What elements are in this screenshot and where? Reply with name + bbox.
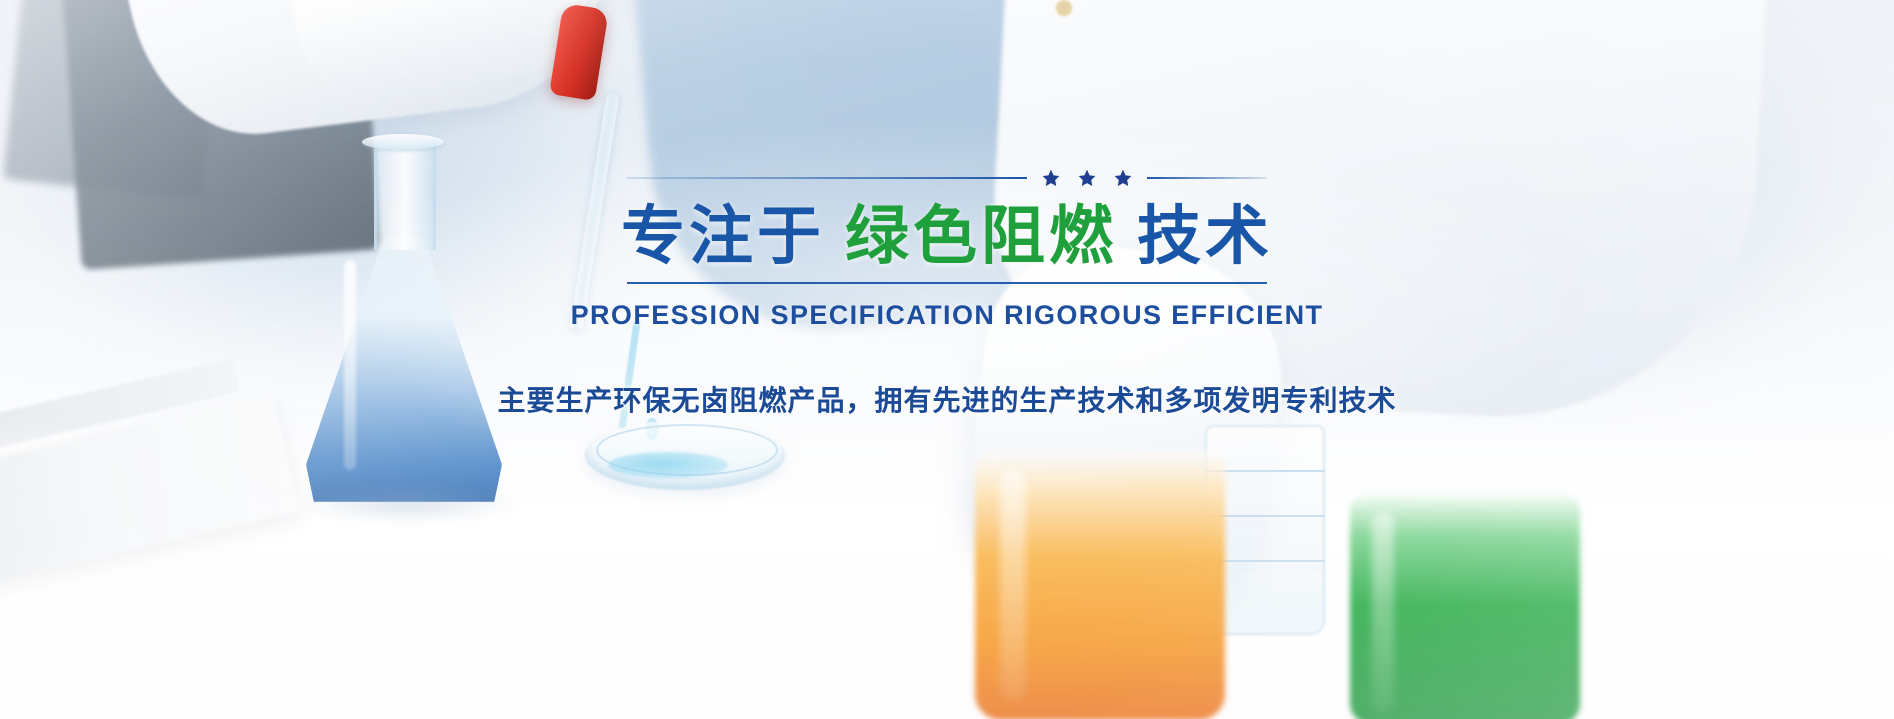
headline-part-1: 专注于: [621, 200, 825, 272]
hero-banner: 专注于绿色阻燃技术 PROFESSION SPECIFICATION RIGOR…: [0, 0, 1894, 719]
banner-description: 主要生产环保无卤阻燃产品，拥有先进的生产技术和多项发明专利技术: [497, 379, 1396, 419]
star-icon: [1077, 168, 1097, 188]
banner-content: 专注于绿色阻燃技术 PROFESSION SPECIFICATION RIGOR…: [0, 0, 1894, 719]
banner-headline: 专注于绿色阻燃技术: [621, 204, 1273, 268]
bottom-divider: [627, 282, 1267, 284]
headline-part-2: 绿色阻燃: [845, 200, 1117, 272]
divider-stars: [1041, 168, 1133, 188]
divider-line-right: [1147, 177, 1267, 179]
banner-subtitle: PROFESSION SPECIFICATION RIGOROUS EFFICI…: [571, 300, 1324, 331]
top-divider: [627, 168, 1267, 188]
star-icon: [1113, 168, 1133, 188]
divider-line-left: [627, 177, 1027, 179]
star-icon: [1041, 168, 1061, 188]
headline-part-3: 技术: [1137, 200, 1273, 272]
